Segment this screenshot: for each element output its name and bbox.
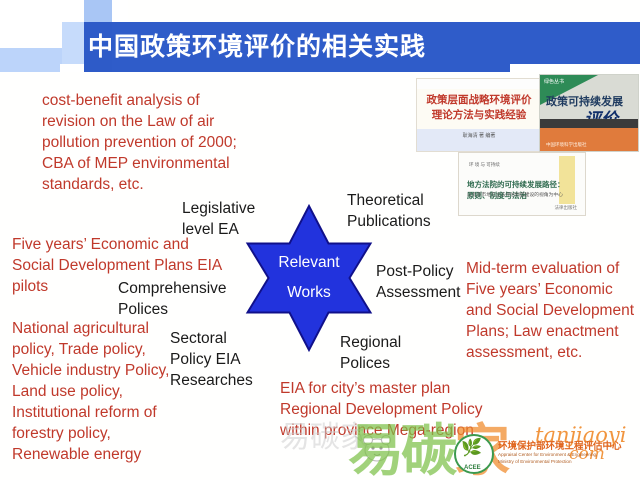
relevant-works-star: Relevant Works xyxy=(234,203,384,353)
book-cover-3: 环 境 与 可持续 地方法院的可持续发展路径：原则、制度与法治 以北京市地方立法… xyxy=(458,152,586,216)
label-post-policy-assessment: Post-Policy Assessment xyxy=(376,261,496,303)
watermark-en-name: tanjiaoyi xyxy=(535,423,626,447)
book-2-tag: 绿色丛书 xyxy=(544,78,564,85)
book-1-title: 政策层面战略环境评价 理论方法与实践经验 xyxy=(425,93,533,123)
page-title: 中国政策环境评价的相关实践 xyxy=(88,30,608,64)
org-name-en-line1: Appraisal Center for Environment & Engin… xyxy=(498,451,638,458)
panda-doodle-icon xyxy=(353,430,399,464)
book-3-subtitle: 以北京市地方立法评估制度建设的视角为中心 xyxy=(467,191,579,198)
book-cover-1: 政策层面战略环境评价 理论方法与实践经验 耿海清 著 编著 xyxy=(416,78,542,152)
title-banner-notch-right xyxy=(510,64,640,72)
book-1-title-line1: 政策层面战略环境评价 xyxy=(425,93,533,108)
note-national-policies: National agricultural policy, Trade poli… xyxy=(12,318,177,465)
deco-square-2 xyxy=(62,0,84,22)
deco-square-6 xyxy=(112,0,128,22)
book-3-publisher: 法律出版社 xyxy=(555,205,578,211)
label-comprehensive-polices: Comprehensive Polices xyxy=(118,278,236,320)
watermark-english: tanjiaoyi com xyxy=(535,426,626,464)
book-1-author: 耿海清 著 编著 xyxy=(417,132,541,139)
org-name-cn: 环境保护部环境工程评估中心 xyxy=(498,438,622,452)
book-1-top xyxy=(417,79,541,89)
deco-square-5 xyxy=(0,48,62,72)
book-1-title-line2: 理论方法与实践经验 xyxy=(425,108,533,123)
note-cost-benefit: cost-benefit analysis of revision on the… xyxy=(42,90,252,195)
org-name-en: Appraisal Center for Environment & Engin… xyxy=(498,451,638,465)
org-name-en-line2: Ministry of Environmental Protection xyxy=(498,458,638,465)
six-pointed-star-icon xyxy=(234,203,384,353)
deco-square-1 xyxy=(0,0,62,48)
leaf-icon: 🌿 xyxy=(461,438,482,458)
slide-canvas: 中国政策环境评价的相关实践 政策层面战略环境评价 理论方法与实践经验 耿海清 著… xyxy=(0,0,640,480)
book-2-footer: 中国环境科学出版社 xyxy=(546,142,587,148)
watermark-en-domain: com xyxy=(569,445,626,464)
book-3-small-header: 环 境 与 可持续 xyxy=(469,162,500,168)
title-banner-notch-left xyxy=(60,64,84,72)
org-logo-abbr: ACEE xyxy=(464,465,481,471)
book-cover-2: 绿色丛书 政策可持续发展 评价 中国环境科学出版社 xyxy=(539,74,639,152)
book-2-bar xyxy=(540,119,638,128)
